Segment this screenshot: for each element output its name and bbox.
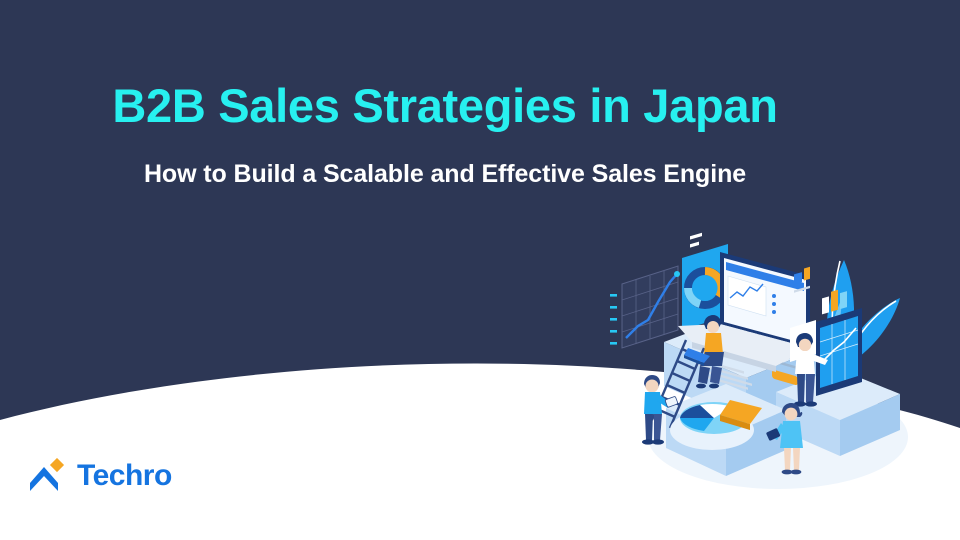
page-title: B2B Sales Strategies in Japan bbox=[0, 80, 890, 132]
title-block: B2B Sales Strategies in Japan How to Bui… bbox=[0, 80, 890, 189]
slide-canvas: B2B Sales Strategies in Japan How to Bui… bbox=[0, 0, 960, 540]
page-subtitle: How to Build a Scalable and Effective Sa… bbox=[0, 132, 890, 189]
chevron-mountain-icon bbox=[26, 458, 68, 494]
logo-text: Techro bbox=[77, 461, 172, 491]
isometric-business-analytics-illustration bbox=[600, 232, 960, 492]
brand-logo[interactable]: Techro bbox=[26, 458, 172, 494]
grid-line-chart-panel bbox=[610, 266, 680, 348]
